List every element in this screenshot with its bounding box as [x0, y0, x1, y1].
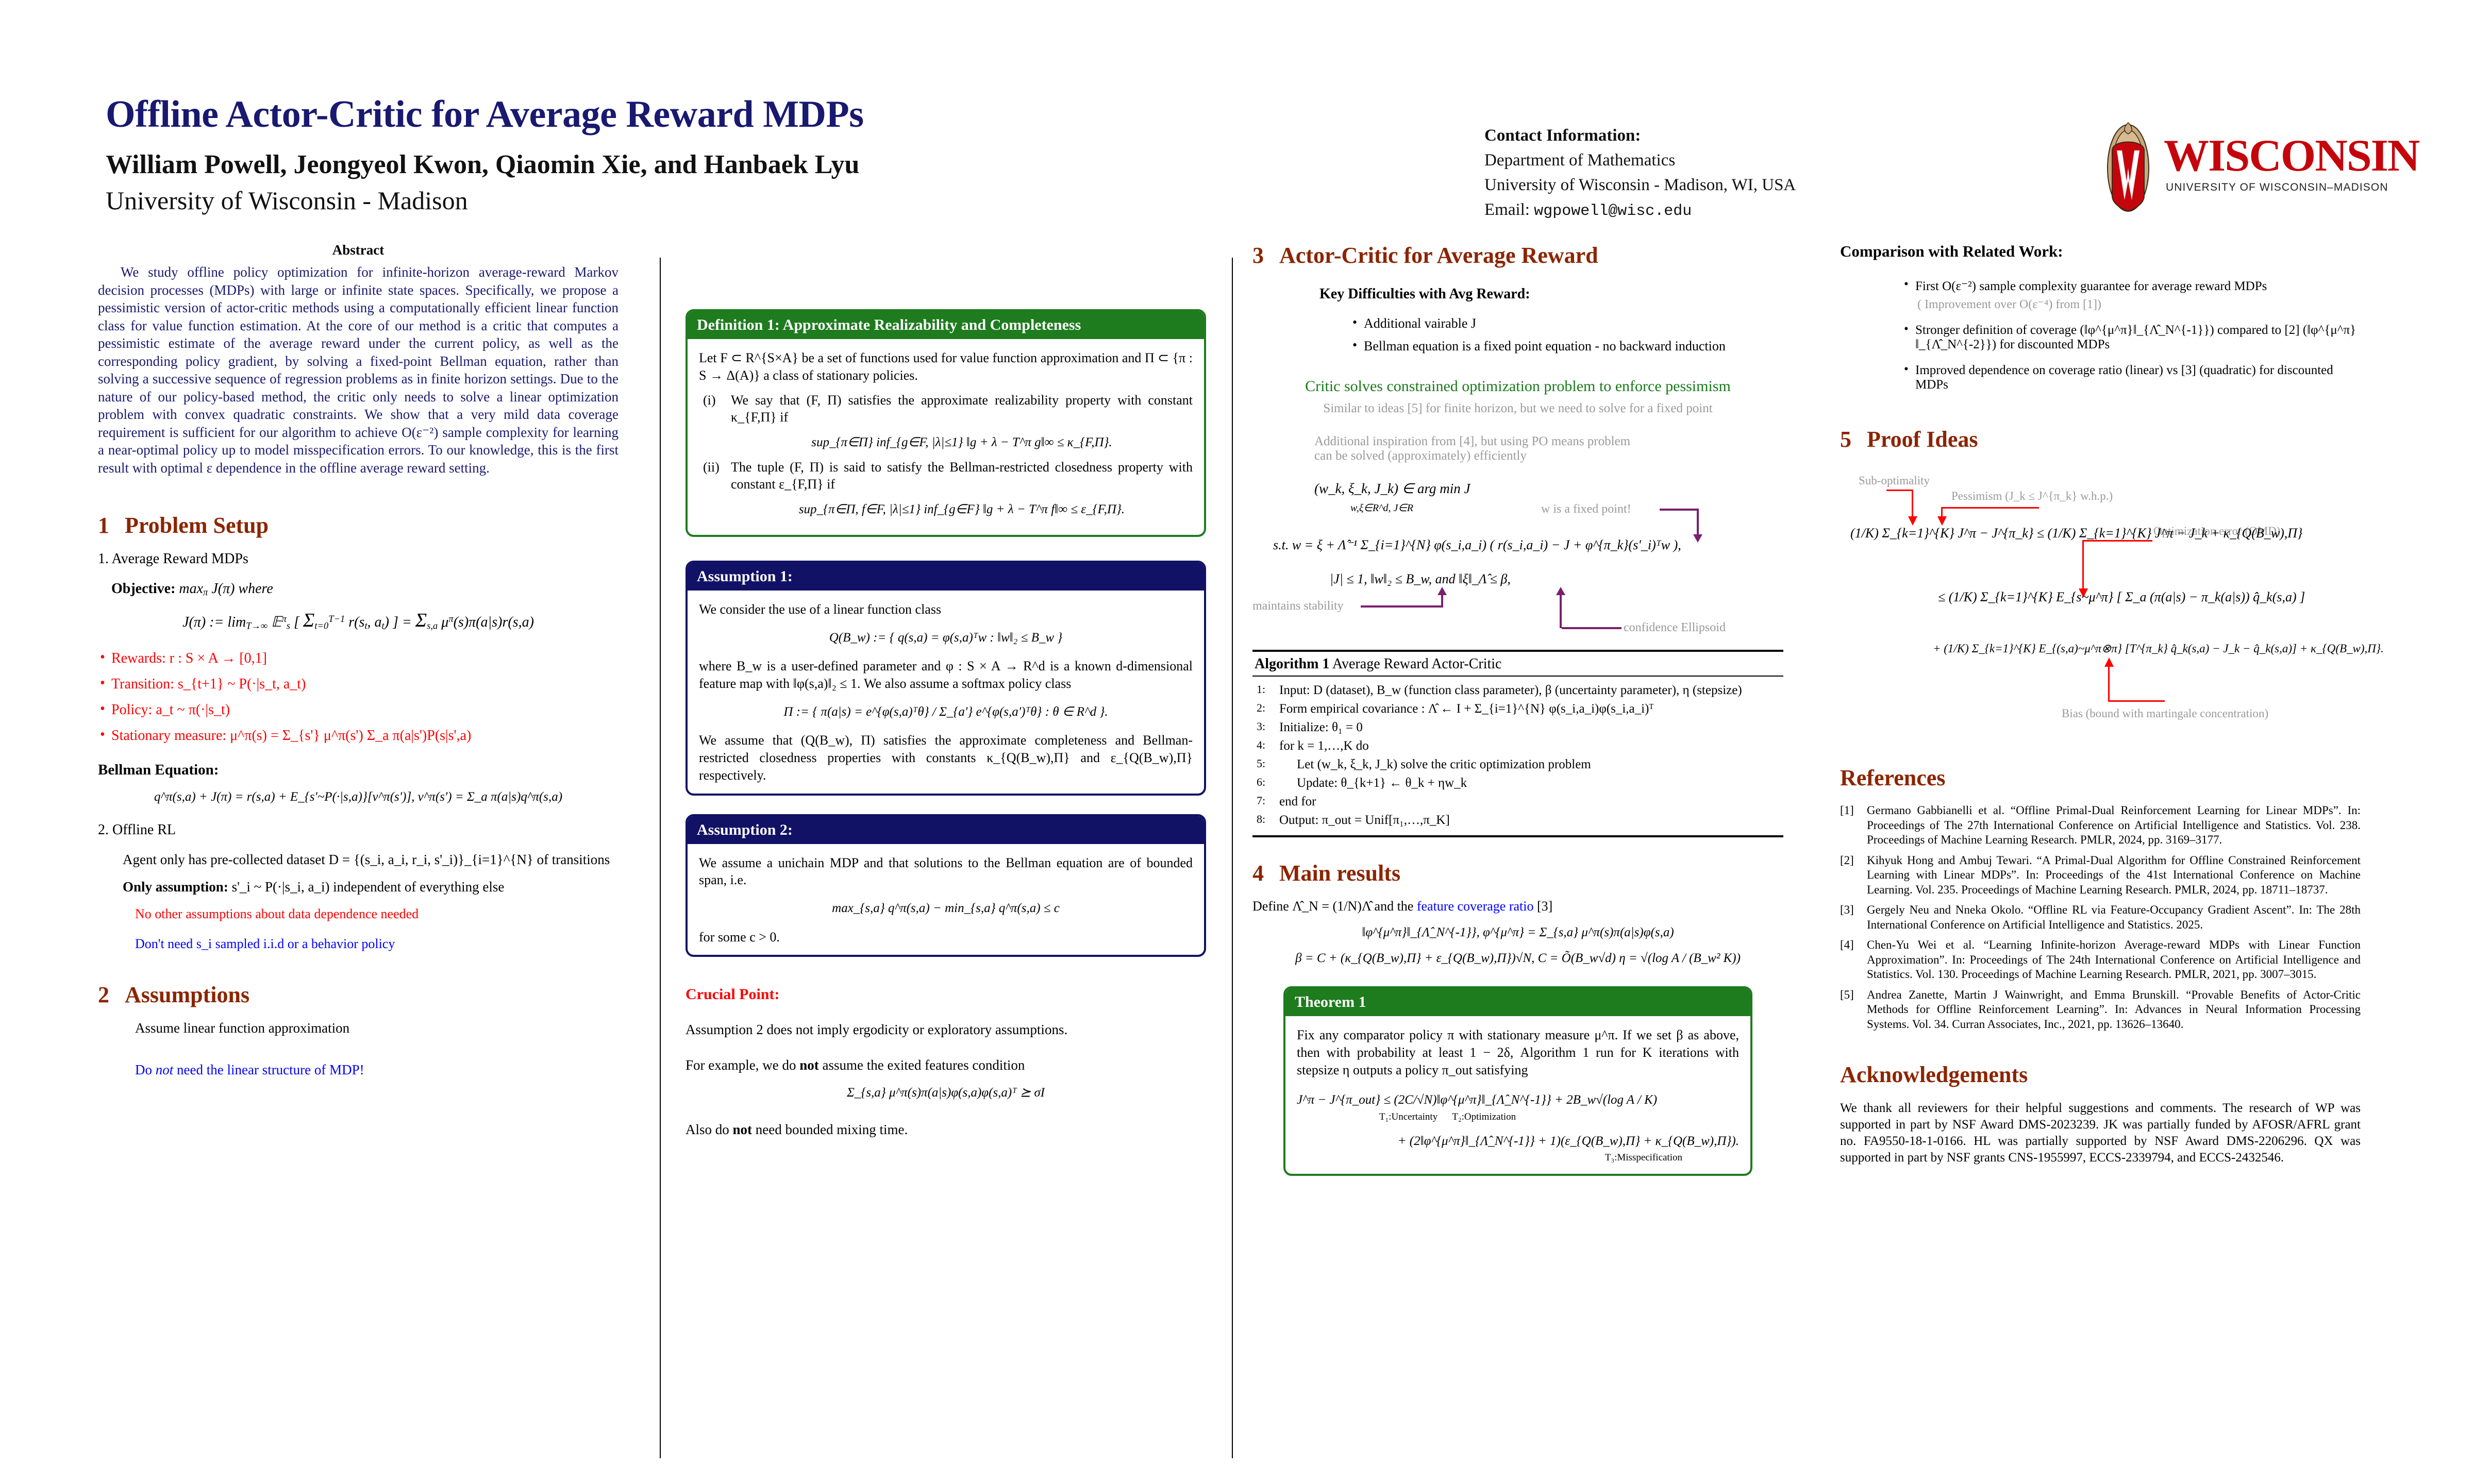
- reference-text-5: Andrea Zanette, Martin J Wainwright, and…: [1867, 988, 2361, 1031]
- theorem-1-title: Theorem 1: [1285, 988, 1750, 1016]
- section-number-5: 5: [1840, 426, 1867, 452]
- assumption-1-eq1: Q(B_w) := { q(s,a) = φ(s,a)ᵀw : ‖w‖₂ ≤ B…: [699, 630, 1193, 647]
- assumption-1-eq2: Π := { π(a|s) = e^{φ(s,a)ᵀθ} / Σ_{a'} e^…: [699, 704, 1193, 721]
- comparison-bullet-1-note: ( Improvement over O(ε⁻⁴) from [1]): [1917, 297, 2361, 312]
- algorithm-1-label: Algorithm 1: [1255, 656, 1329, 672]
- critic-optimization-annotated: (w_k, ξ_k, J_k) ∈ arg min J w,ξ∈R^d, J∈R…: [1252, 470, 1783, 640]
- definition-1-eq-i: sup_{π∈Π} inf_{g∈F, |λ|≤1} ‖g + λ − T^π …: [731, 434, 1193, 451]
- algorithm-step-1: Input: D (dataset), B_w (function class …: [1252, 682, 1781, 699]
- section-title-3: Actor-Critic for Average Reward: [1279, 243, 1598, 268]
- proof-arrow-bias: [2104, 657, 2114, 667]
- author-list: William Powell, Jeongyeol Kwon, Qiaomin …: [106, 149, 859, 180]
- algorithm-1-name: Average Reward Actor-Critic: [1332, 656, 1502, 672]
- section-number-4: 4: [1252, 860, 1279, 886]
- problem-bullet-list: Rewards: r : S × A → [0,1] Transition: s…: [98, 650, 618, 744]
- column-divider-2: [1232, 258, 1233, 1458]
- item-mark-i: (i): [703, 392, 716, 409]
- critic-opt-line-1-sub: w,ξ∈R^d, J∈R: [1350, 501, 1413, 514]
- proof-label-pessimism: Pessimism (J_k ≤ J^{π_k} w.h.p.): [1951, 490, 2113, 503]
- reference-number-5: [5]: [1840, 988, 1854, 1003]
- cp-p3-post: need bounded mixing time.: [752, 1122, 908, 1137]
- abstract-heading: Abstract: [98, 242, 618, 258]
- assumption-1-title: Assumption 1:: [688, 563, 1204, 591]
- critic-opt-line-1: (w_k, ξ_k, J_k) ∈ arg min J: [1314, 481, 1470, 497]
- objective-label: Objective:: [111, 581, 175, 597]
- theorem-1-braces-row: T₁:Uncertainty T₂:Optimization: [1379, 1111, 1739, 1124]
- proof-label-suboptimality: Sub-optimality: [1859, 474, 1930, 487]
- proof-line-opt-v: [2082, 540, 2084, 589]
- algorithm-step-2: Form empirical covariance : Λ̂ ← I + Σ_{…: [1252, 700, 1781, 717]
- contact-email-value[interactable]: wgpowell@wisc.edu: [1534, 203, 1692, 220]
- proof-line-pess-h: [1941, 507, 2039, 509]
- annot-w-fixed-point: w is a fixed point!: [1541, 502, 1631, 516]
- reference-text-4: Chen-Yu Wei et al. “Learning Infinite-ho…: [1867, 938, 2361, 981]
- annot-maintains-stability: maintains stability: [1252, 599, 1344, 613]
- theorem-1-eq-tail: + (2‖φ^{μ^π}‖_{Λ̂_N^{-1}} + 1)(ε_{Q(B_w)…: [1297, 1133, 1739, 1150]
- annot-line-fixedpoint-h: [1660, 509, 1699, 511]
- key-difficulties-list: Additional vairable J Bellman equation i…: [1350, 316, 1783, 354]
- annot-line-stability-h: [1361, 605, 1443, 608]
- theorem-1-brace-3: T₃:Misspecification: [1297, 1152, 1682, 1165]
- critic-opt-line-3: |J| ≤ 1, ‖w‖₂ ≤ B_w, and ‖ξ‖_Λ̂ ≤ β,: [1330, 571, 1511, 587]
- objective-equation: J(π) := limT→∞ 𝔼πs [ Σt=0T−1 r(st, at) ]…: [98, 609, 618, 632]
- definition-1-item-i: (i) We say that (F, Π) satisfies the app…: [699, 392, 1193, 451]
- annot-line-ellipsoid-v: [1560, 595, 1562, 628]
- problem-bullet-transition: Transition: s_{t+1} ~ P(·|s_t, a_t): [98, 676, 618, 693]
- crucial-point-p1: Assumption 2 does not imply ergodicity o…: [686, 1022, 1206, 1038]
- reference-number-2: [2]: [1840, 853, 1854, 868]
- logo-subtitle: UNIVERSITY OF WISCONSIN–MADISON: [2166, 181, 2388, 194]
- proof-equation-line-1: (1/K) Σ_{k=1}^{K} J^π − J^{π_k} ≤ (1/K) …: [1850, 526, 2302, 541]
- section-number-2: 2: [98, 982, 125, 1008]
- critic-pessimism-line: Critic solves constrained optimization p…: [1252, 378, 1783, 395]
- main-results-eq-2: β = C + (κ_{Q(B_w),Π} + ε_{Q(B_w),Π})√N,…: [1252, 951, 1783, 966]
- section-number-1: 1: [98, 512, 125, 538]
- reference-text-3: Gergely Neu and Nneka Okolo. “Offline RL…: [1867, 903, 2361, 931]
- key-difficulty-fixed-point: Bellman equation is a fixed point equati…: [1350, 339, 1783, 354]
- main-results-eq-1: ‖φ^{μ^π}‖_{Λ̂_N^{-1}}, φ^{μ^π} = Σ_{s,a}…: [1252, 925, 1783, 940]
- cp-p3-bold: not: [733, 1122, 753, 1137]
- contact-department: Department of Mathematics: [1484, 148, 1796, 173]
- algorithm-step-6: Update: θ_{k+1} ← θ_k + ηw_k: [1252, 774, 1781, 791]
- proof-label-bias: Bias (bound with martingale concentratio…: [2062, 707, 2268, 720]
- contact-university: University of Wisconsin - Madison, WI, U…: [1484, 173, 1796, 198]
- assumption-line-no-linear-mdp: Do not need the linear structure of MDP!: [135, 1062, 618, 1078]
- section-heading-problem-setup: 1Problem Setup: [98, 512, 618, 538]
- assumption-2-box: Assumption 2: We assume a unichain MDP a…: [686, 814, 1206, 957]
- annot-arrow-fixedpoint: [1693, 534, 1702, 543]
- crucial-point-eq: Σ_{s,a} μ^π(s)π(a|s)φ(s,a)φ(s,a)ᵀ ⪰ σI: [686, 1085, 1206, 1100]
- cp-p2-post: assume the exited features condition: [819, 1057, 1025, 1073]
- theorem-1-body: Fix any comparator policy π with station…: [1285, 1016, 1750, 1174]
- section-title-2: Assumptions: [125, 982, 249, 1007]
- assumption-2-title: Assumption 2:: [688, 816, 1204, 844]
- problem-bullet-stationary-measure: Stationary measure: μ^π(s) = Σ_{s'} μ^π(…: [98, 728, 618, 744]
- only-assumption-row: Only assumption: s'_i ~ P(·|s_i, a_i) in…: [123, 879, 618, 895]
- column-4: Comparison with Related Work: First O(ε⁻…: [1840, 242, 2361, 1174]
- section-heading-acknowledgements: Acknowledgements: [1840, 1061, 2361, 1088]
- cp-p2-bold: not: [799, 1057, 819, 1073]
- annot-arrow-ellipsoid: [1556, 587, 1565, 595]
- cp-p3-pre: Also do: [686, 1122, 733, 1137]
- section-number-3: 3: [1252, 242, 1279, 268]
- definition-1-title: Definition 1: Approximate Realizability …: [688, 311, 1204, 339]
- proof-line-bias-h: [2108, 700, 2165, 702]
- critic-note-finite-horizon: Similar to ideas [5] for finite horizon,…: [1252, 401, 1783, 416]
- contact-label: Contact Information:: [1484, 124, 1796, 148]
- comparison-bullet-3: Improved dependence on coverage ratio (l…: [1902, 363, 2361, 392]
- section-title-1: Problem Setup: [125, 513, 269, 538]
- annot-confidence-ellipsoid: confidence Ellipsoid: [1624, 621, 1726, 635]
- section-heading-main-results: 4Main results: [1252, 860, 1783, 886]
- contact-email-label: Email:: [1484, 200, 1530, 219]
- comparison-bullet-list: First O(ε⁻²) sample complexity guarantee…: [1902, 278, 2361, 392]
- crucial-point-title: Crucial Point:: [686, 986, 1206, 1003]
- problem-item-1: 1. Average Reward MDPs: [98, 551, 618, 567]
- reference-text-1: Germano Gabbianelli et al. “Offline Prim…: [1867, 804, 2361, 846]
- algorithm-step-5: Let (w_k, ξ_k, J_k) solve the critic opt…: [1252, 756, 1781, 773]
- problem-item-2: 2. Offline RL: [98, 822, 618, 838]
- section-title-4: Main results: [1279, 861, 1400, 886]
- only-assumption-label: Only assumption:: [123, 879, 228, 895]
- theorem-1-text: Fix any comparator policy π with station…: [1297, 1026, 1739, 1078]
- reference-item-3: [3] Gergely Neu and Nneka Okolo. “Offlin…: [1840, 903, 2361, 932]
- proof-line-bias-v: [2108, 666, 2110, 702]
- assumption-1-p3: We assume that (Q(B_w), Π) satisfies the…: [699, 732, 1193, 784]
- problem-bullet-rewards: Rewards: r : S × A → [0,1]: [98, 650, 618, 667]
- bellman-equation-label: Bellman Equation:: [98, 762, 618, 779]
- annot-arrow-stability: [1437, 587, 1447, 595]
- note-no-iid-needed: Don't need s_i sampled i.i.d or a behavi…: [135, 936, 618, 952]
- column-1: Abstract We study offline policy optimiz…: [98, 242, 618, 1078]
- proof-line-subopt-h: [1886, 490, 1913, 491]
- item-text-i: We say that (F, Π) satisfies the approxi…: [731, 393, 1193, 425]
- bellman-equation: q^π(s,a) + J(π) = r(s,a) + E_{s'~P(·|s,a…: [98, 790, 618, 804]
- reference-item-4: [4] Chen-Yu Wei et al. “Learning Infinit…: [1840, 938, 2361, 982]
- section-title-5: Proof Ideas: [1867, 427, 1978, 452]
- proof-equation-line-3: + (1/K) Σ_{k=1}^{K} E_{(s,a)~μ^π⊗π} [T^{…: [1933, 642, 2384, 655]
- assumption-1-body: We consider the use of a linear function…: [688, 591, 1204, 794]
- acknowledgements-text: We thank all reviewers for their helpful…: [1840, 1100, 2361, 1166]
- reference-number-4: [4]: [1840, 938, 1854, 953]
- reference-number-3: [3]: [1840, 903, 1854, 918]
- dataset-description: Agent only has pre-collected dataset D =…: [123, 852, 618, 868]
- item-text-ii: The tuple (F, Π) is said to satisfy the …: [731, 460, 1193, 492]
- define-pre: Define Λ̂_N = (1/N)Λ̂ and the: [1252, 899, 1417, 914]
- column-2: Definition 1: Approximate Realizability …: [686, 242, 1206, 1138]
- critic-note-inspiration-1: Additional inspiration from [4], but usi…: [1314, 434, 1783, 449]
- objective-row: Objective: maxπ J(π) where: [111, 581, 618, 598]
- page-title: Offline Actor-Critic for Average Reward …: [106, 93, 864, 137]
- crucial-point-p3: Also do not need bounded mixing time.: [686, 1122, 1206, 1138]
- proof-line-pess-v: [1941, 507, 1943, 517]
- main-results-define-row: Define Λ̂_N = (1/N)Λ̂ and the feature co…: [1252, 899, 1783, 914]
- theorem-1-brace-1: T₁:Uncertainty: [1379, 1111, 1437, 1122]
- theorem-1-brace-2: T₂:Optimization: [1452, 1111, 1516, 1122]
- reference-list: [1] Germano Gabbianelli et al. “Offline …: [1840, 803, 2361, 1032]
- comparison-bullet-1: First O(ε⁻²) sample complexity guarantee…: [1902, 278, 2361, 294]
- algorithm-1-steps: Input: D (dataset), B_w (function class …: [1252, 677, 1783, 835]
- assumption-1-box: Assumption 1: We consider the use of a l…: [686, 561, 1206, 796]
- algorithm-1-block: Algorithm 1 Average Reward Actor-Critic …: [1252, 650, 1783, 837]
- section-heading-references: References: [1840, 765, 2361, 791]
- critic-note-inspiration-2: can be solved (approximately) efficientl…: [1314, 449, 1783, 463]
- assumption-2-eq1: max_{s,a} q^π(s,a) − min_{s,a} q^π(s,a) …: [699, 900, 1193, 917]
- affiliation: University of Wisconsin - Madison: [106, 185, 468, 215]
- reference-item-5: [5] Andrea Zanette, Martin J Wainwright,…: [1840, 988, 2361, 1032]
- reference-item-2: [2] Kihyuk Hong and Ambuj Tewari. “A Pri…: [1840, 853, 2361, 898]
- section-heading-assumptions: 2Assumptions: [98, 982, 618, 1008]
- assumption-2-body: We assume a unichain MDP and that soluti…: [688, 844, 1204, 955]
- section-heading-actor-critic: 3Actor-Critic for Average Reward: [1252, 242, 1783, 268]
- item-mark-ii: (ii): [703, 459, 720, 476]
- proof-arrow-pess: [1937, 516, 1947, 526]
- contact-block: Contact Information: Department of Mathe…: [1484, 124, 1796, 223]
- line2-italic: not: [156, 1062, 174, 1077]
- definition-1-eq-ii: sup_{π∈Π, f∈F, |λ|≤1} inf_{g∈F} ‖g + λ −…: [731, 501, 1193, 518]
- cp-p2-pre: For example, we do: [686, 1057, 799, 1073]
- reference-item-1: [1] Germano Gabbianelli et al. “Offline …: [1840, 803, 2361, 848]
- theorem-1-box: Theorem 1 Fix any comparator policy π wi…: [1283, 986, 1752, 1176]
- proof-ideas-diagram: Sub-optimality Pessimism (J_k ≤ J^{π_k} …: [1840, 465, 2361, 753]
- definition-1-items: (i) We say that (F, Π) satisfies the app…: [699, 392, 1193, 518]
- annot-line-fixedpoint-v: [1697, 509, 1699, 535]
- theorem-1-eq-main: J^π − J^{π_out} ≤ (2C/√N)‖φ^{μ^π}‖_{Λ̂_N…: [1297, 1092, 1739, 1109]
- uw-crest-icon: [2098, 119, 2159, 214]
- algorithm-1-header: Algorithm 1 Average Reward Actor-Critic: [1252, 652, 1783, 677]
- definition-1-intro: Let F ⊂ R^{S×A} be a set of functions us…: [699, 349, 1193, 384]
- define-post: [3]: [1533, 899, 1552, 914]
- column-3: 3Actor-Critic for Average Reward Key Dif…: [1252, 242, 1783, 1176]
- logo-wordmark: WISCONSIN: [2164, 130, 2419, 182]
- section-heading-proof-ideas: 5Proof Ideas: [1840, 426, 2361, 452]
- annot-line-ellipsoid-h: [1562, 627, 1622, 629]
- assumption-2-p1: We assume a unichain MDP and that soluti…: [699, 854, 1193, 889]
- comparison-bullet-2: Stronger definition of coverage (‖φ^{μ^π…: [1902, 323, 2361, 352]
- reference-text-2: Kihyuk Hong and Ambuj Tewari. “A Primal-…: [1867, 854, 2361, 896]
- assumption-line-linear-approx: Assume linear function approximation: [135, 1020, 618, 1036]
- key-difficulty-additional-variable: Additional vairable J: [1350, 316, 1783, 331]
- assumption-1-p1: We consider the use of a linear function…: [699, 601, 1193, 618]
- poster-root: Offline Actor-Critic for Average Reward …: [0, 0, 2474, 1484]
- note-no-other-assumptions: No other assumptions about data dependen…: [135, 906, 618, 922]
- annot-line-stability-v: [1441, 595, 1443, 608]
- reference-number-1: [1]: [1840, 803, 1854, 818]
- column-divider-1: [660, 258, 661, 1458]
- definition-1-item-ii: (ii) The tuple (F, Π) is said to satisfy…: [699, 459, 1193, 518]
- proof-equation-line-2: ≤ (1/K) Σ_{k=1}^{K} E_{s~μ^π} [ Σ_a (π(a…: [1938, 589, 2305, 605]
- only-assumption-text: s'_i ~ P(·|s_i, a_i) independent of ever…: [232, 879, 505, 895]
- comparison-title: Comparison with Related Work:: [1840, 242, 2361, 261]
- proof-line-subopt-v: [1912, 490, 1913, 517]
- feature-coverage-ratio-link[interactable]: feature coverage ratio: [1417, 899, 1534, 914]
- line2-post: need the linear structure of MDP!: [173, 1062, 364, 1077]
- crucial-point-p2: For example, we do not assume the exited…: [686, 1057, 1206, 1073]
- critic-opt-line-2: s.t. w = ξ + Λ̂⁻¹ Σ_{i=1}^{N} φ(s_i,a_i)…: [1273, 537, 1681, 553]
- algorithm-step-4: for k = 1,…,K do: [1252, 737, 1781, 754]
- assumption-1-p2: where B_w is a user-defined parameter an…: [699, 657, 1193, 693]
- problem-bullet-policy: Policy: a_t ~ π(·|s_t): [98, 702, 618, 718]
- line2-pre: Do: [135, 1062, 156, 1077]
- proof-arrow-subopt: [1908, 516, 1917, 526]
- uw-madison-logo: WISCONSIN UNIVERSITY OF WISCONSIN–MADISO…: [2098, 119, 2397, 214]
- definition-1-box: Definition 1: Approximate Realizability …: [686, 309, 1206, 537]
- key-difficulties-label: Key Difficulties with Avg Reward:: [1319, 286, 1783, 302]
- contact-email-row: Email: wgpowell@wisc.edu: [1484, 198, 1796, 223]
- definition-1-body: Let F ⊂ R^{S×A} be a set of functions us…: [688, 339, 1204, 535]
- poster-header: Offline Actor-Critic for Average Reward …: [0, 0, 2474, 242]
- algorithm-step-7: end for: [1252, 793, 1781, 810]
- algorithm-step-8: Output: π_out = Unif[π₁,…,π_K]: [1252, 812, 1781, 829]
- assumption-2-p2: for some c > 0.: [699, 929, 1193, 946]
- algorithm-step-3: Initialize: θ₁ = 0: [1252, 719, 1781, 736]
- abstract-text: We study offline policy optimization for…: [98, 263, 618, 477]
